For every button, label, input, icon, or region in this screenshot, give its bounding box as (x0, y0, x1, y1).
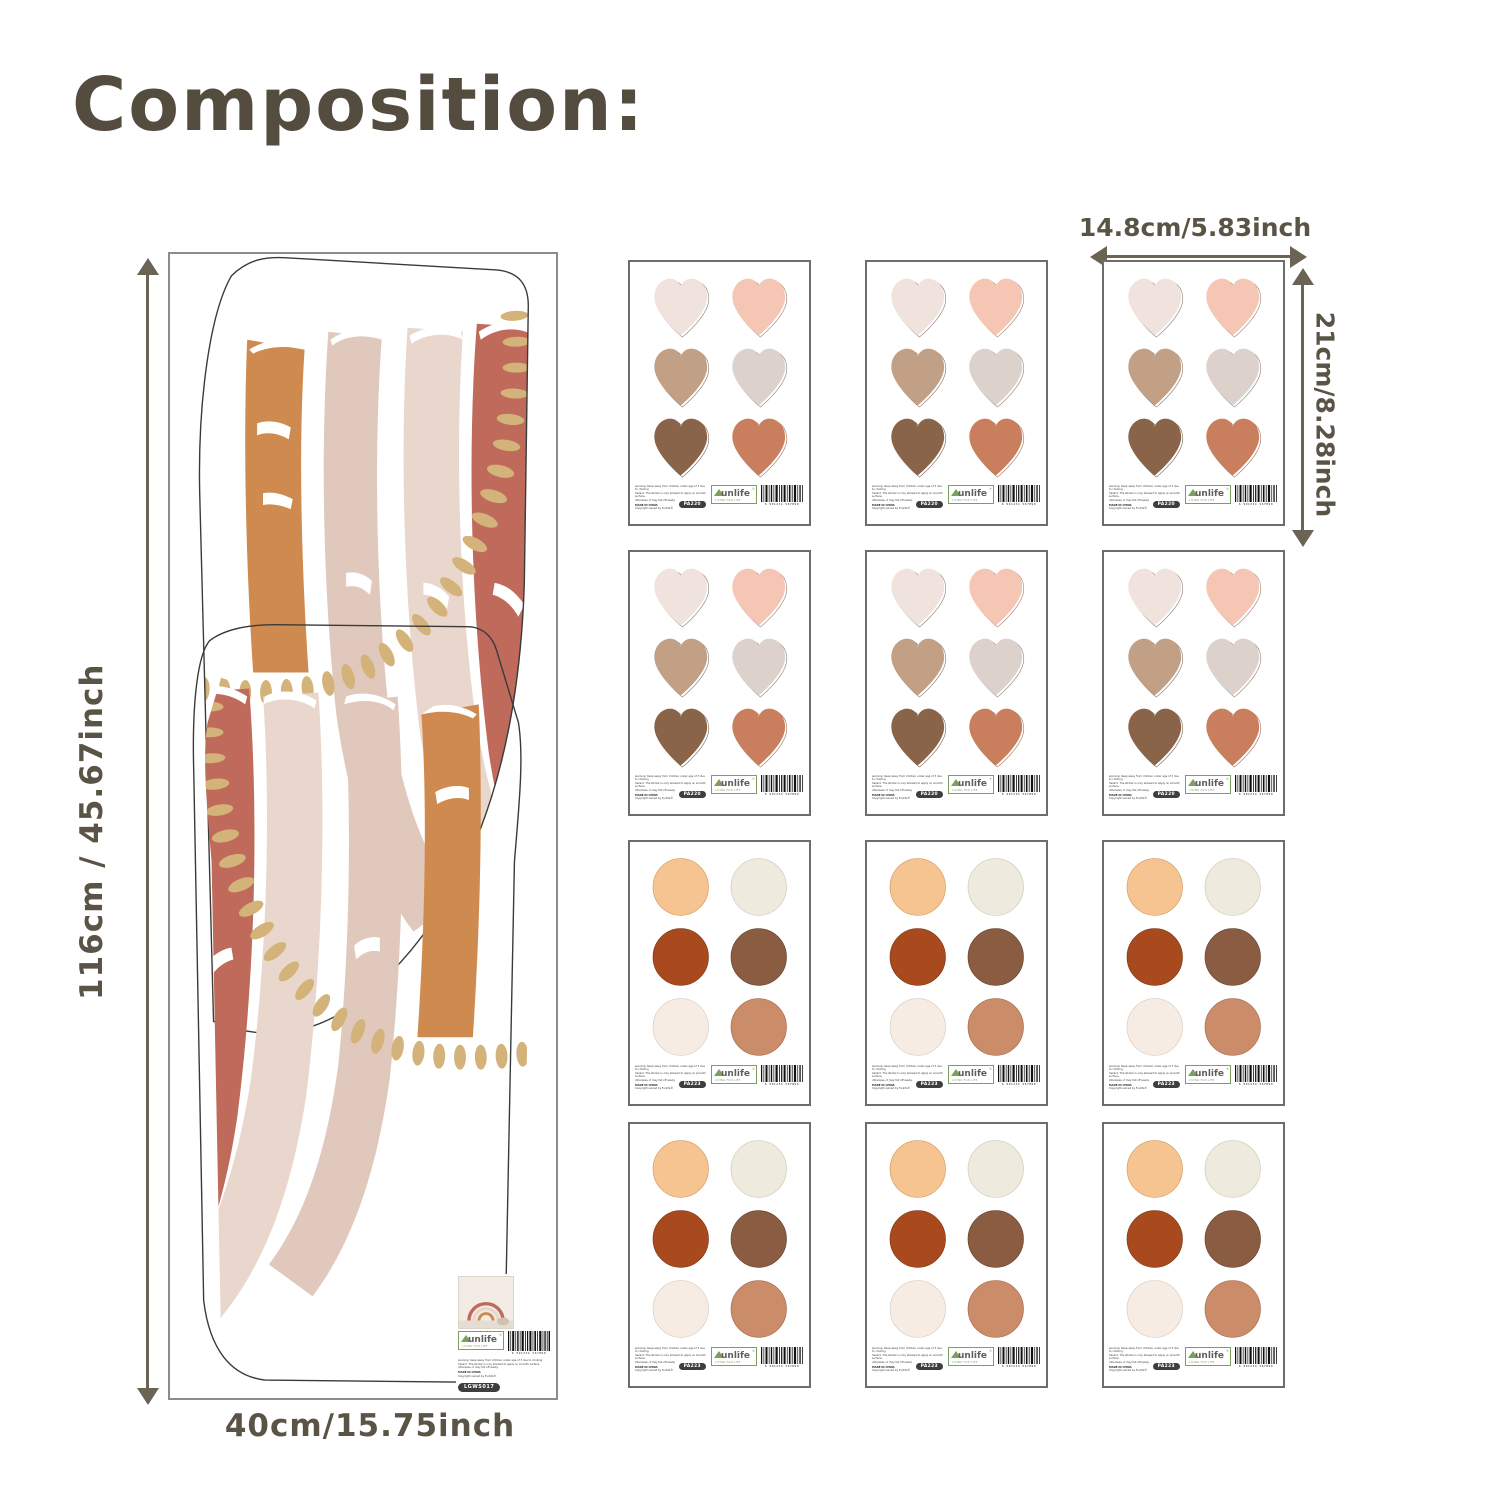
heart-sticker-sheet[interactable]: warning: Keep away from children under a… (865, 550, 1048, 816)
heart-sticker-dark-brown[interactable] (879, 702, 957, 772)
circle-sticker-medium-brown[interactable] (1194, 1204, 1272, 1274)
barcode-number: 6 901234 567890 (1234, 1364, 1278, 1368)
trademark-icon: ® (752, 777, 755, 781)
barcode: 6 901234 567890 (997, 1065, 1041, 1089)
sheet-footer: warning: Keep away from children under a… (1104, 1344, 1283, 1386)
trademark-icon: ® (499, 1333, 502, 1337)
heart-sticker-sheet[interactable]: warning: Keep away from children under a… (1102, 550, 1285, 816)
heart-sticker-terracotta[interactable] (1194, 412, 1272, 482)
circle-sticker-salmon-tan[interactable] (1194, 1274, 1272, 1344)
rainbow-bottom-piece (170, 675, 529, 1377)
heart-sticker-sheet[interactable]: warning: Keep away from children under a… (1102, 260, 1285, 526)
sheet-code-badge: PA220 (679, 791, 706, 798)
sheet-footer: warning: Keep away from children under a… (1104, 772, 1283, 814)
barcode-bars-icon (997, 1065, 1041, 1082)
sheet-artwork (630, 842, 809, 1062)
circle-sticker-sheet[interactable]: warning: Keep away from children under a… (628, 840, 811, 1106)
sheet-artwork (630, 262, 809, 482)
heart-sticker-tan-camel[interactable] (642, 632, 720, 702)
trademark-icon: ® (1226, 777, 1229, 781)
warning-line-2: hazard. The sticker is only allowed to a… (635, 492, 708, 499)
barcode-number: 6 901234 567890 (997, 1364, 1041, 1368)
rainbow-artwork (170, 254, 556, 1398)
circle-sticker-light-apricot[interactable] (1116, 852, 1194, 922)
warning-line-1: warning: Keep away from children under a… (872, 485, 945, 492)
sheet-code-badge: PA223 (916, 1363, 943, 1370)
circle-sticker-rust[interactable] (1116, 922, 1194, 992)
sheet-height-arrow-line (1301, 282, 1304, 534)
barcode-number: 6 901234 567890 (997, 502, 1041, 506)
rainbow-decal-panel[interactable]: unlife ® LIVING FUN LIFE (168, 252, 558, 1400)
circle-sticker-salmon-tan[interactable] (720, 992, 798, 1062)
warning-line-1: warning: Keep away from children under a… (1109, 775, 1182, 782)
warning-line-2: hazard. The sticker is only allowed to a… (1109, 492, 1182, 499)
warning-block: warning: Keep away from children under a… (1109, 775, 1182, 800)
warning-line-1: warning: Keep away from children under a… (872, 1347, 945, 1354)
barcode: 6 901234 567890 (997, 1347, 1041, 1371)
heart-sticker-dark-brown[interactable] (1116, 412, 1194, 482)
barcode-bars-icon (760, 1065, 804, 1082)
circle-sticker-salmon-tan[interactable] (957, 1274, 1035, 1344)
barcode-number: 6 901234 567890 (1234, 1082, 1278, 1086)
brand-name: unlife (958, 1352, 987, 1361)
circle-sticker-rust[interactable] (879, 922, 957, 992)
brand-name: unlife (721, 1070, 750, 1079)
circle-sticker-light-apricot[interactable] (1116, 1134, 1194, 1204)
heart-sticker-terracotta[interactable] (1194, 702, 1272, 772)
heart-sticker-tan-camel[interactable] (879, 342, 957, 412)
sheet-code-badge: PA223 (916, 1081, 943, 1088)
trademark-icon: ® (752, 1067, 755, 1071)
brand-logo: unlife ® LIVING FUN LIFE (711, 775, 757, 794)
thumbnail-rainbow-art (459, 1277, 513, 1328)
trademark-icon: ® (989, 1349, 992, 1353)
warning-line-2: hazard. The sticker is only allowed to a… (635, 1072, 708, 1079)
sheet-width-arrow-line (1104, 255, 1290, 258)
heart-sticker-tan-camel[interactable] (1116, 632, 1194, 702)
sheet-code-badge: PA220 (1153, 791, 1180, 798)
heart-sticker-tan-camel[interactable] (642, 342, 720, 412)
sheet-code-badge: PA223 (1153, 1363, 1180, 1370)
warning-block: warning: Keep away from children under a… (872, 1347, 945, 1372)
sheet-code-badge: PA223 (679, 1363, 706, 1370)
brand-tagline: LIVING FUN LIFE (715, 499, 741, 502)
circle-sticker-linen-white[interactable] (879, 992, 957, 1062)
heart-sticker-terracotta[interactable] (720, 702, 798, 772)
trademark-icon: ® (1226, 1067, 1229, 1071)
barcode-bars-icon (760, 1347, 804, 1364)
warning-block: warning: Keep away from children under a… (872, 1065, 945, 1090)
barcode-bars-icon (1234, 775, 1278, 792)
brand-tagline: LIVING FUN LIFE (715, 789, 741, 792)
circle-sticker-sheet[interactable]: warning: Keep away from children under a… (865, 840, 1048, 1106)
circle-sticker-sheet[interactable]: warning: Keep away from children under a… (1102, 1122, 1285, 1388)
circle-sticker-medium-brown[interactable] (720, 922, 798, 992)
warning-line-1: warning: Keep away from children under a… (635, 775, 708, 782)
warning-block: warning: Keep away from children under a… (635, 1347, 708, 1372)
warning-block: warning: Keep away from children under a… (872, 775, 945, 800)
copyright-label: Copyright owned by Funlife® (458, 1375, 550, 1378)
brand-tagline: LIVING FUN LIFE (715, 1361, 741, 1364)
trademark-icon: ® (989, 777, 992, 781)
brand-name: unlife (958, 1070, 987, 1079)
warning-block: warning: Keep away from children under a… (635, 775, 708, 800)
barcode: 6 901234 567890 (1234, 485, 1278, 509)
warning-block: warning: Keep away from children under a… (1109, 1065, 1182, 1090)
heart-sticker-warm-grey[interactable] (720, 342, 798, 412)
height-arrow-line (146, 272, 149, 1392)
warning-line-1: warning: Keep away from children under a… (635, 485, 708, 492)
height-arrow-head-bottom (137, 1388, 159, 1405)
heart-sticker-dark-brown[interactable] (1116, 702, 1194, 772)
brand-tagline: LIVING FUN LIFE (952, 1361, 978, 1364)
trademark-icon: ® (752, 487, 755, 491)
heart-sticker-peach-pink[interactable] (720, 272, 798, 342)
brand-name: unlife (1195, 1352, 1224, 1361)
heart-sticker-peach-pink[interactable] (957, 272, 1035, 342)
heart-sticker-warm-grey[interactable] (957, 632, 1035, 702)
barcode-number: 6 901234 567890 (760, 502, 804, 506)
panel-label-block: unlife ® LIVING FUN LIFE (456, 1274, 552, 1394)
sheet-code-badge: PA220 (916, 791, 943, 798)
circle-sticker-linen-white[interactable] (879, 1274, 957, 1344)
circle-sticker-light-apricot[interactable] (879, 1134, 957, 1204)
heart-sticker-cream-blush[interactable] (1116, 272, 1194, 342)
sheet-code-badge: PA220 (679, 501, 706, 508)
heart-sticker-peach-pink[interactable] (957, 562, 1035, 632)
panel-height-label: 116cm / 45.67inch (74, 680, 110, 1000)
warning-line-1: warning: Keep away from children under a… (635, 1065, 708, 1072)
heart-sticker-sheet[interactable]: warning: Keep away from children under a… (628, 550, 811, 816)
barcode: 6 901234 567890 (760, 775, 804, 799)
barcode: 6 901234 567890 (760, 1347, 804, 1371)
sheet-artwork (867, 842, 1046, 1062)
brand-logo: unlife ® LIVING FUN LIFE (1185, 485, 1231, 504)
brand-tagline: LIVING FUN LIFE (952, 499, 978, 502)
circle-sticker-ivory-cream[interactable] (1194, 852, 1272, 922)
sheet-artwork (1104, 262, 1283, 482)
product-code-badge: LGWS017 (458, 1383, 500, 1392)
sheet-artwork (867, 1124, 1046, 1344)
circle-sticker-medium-brown[interactable] (720, 1204, 798, 1274)
brand-tagline: LIVING FUN LIFE (1189, 1079, 1215, 1082)
sticker-sheet-grid: warning: Keep away from children under a… (628, 260, 1288, 1420)
sheet-artwork (1104, 842, 1283, 1062)
warning-line-2: hazard. The sticker is only allowed to a… (1109, 1354, 1182, 1361)
brand-tagline: LIVING FUN LIFE (462, 1345, 488, 1348)
warning-line-2: hazard. The sticker is only allowed to a… (872, 492, 945, 499)
brand-tagline: LIVING FUN LIFE (1189, 789, 1215, 792)
circle-sticker-medium-brown[interactable] (957, 1204, 1035, 1274)
barcode: 6 901234 567890 (760, 1065, 804, 1089)
circle-sticker-ivory-cream[interactable] (720, 852, 798, 922)
warning-line-2: hazard. The sticker is only allowed to a… (872, 1072, 945, 1079)
warning-line-1: warning: Keep away from children under a… (1109, 1065, 1182, 1072)
barcode-bars-icon (1234, 1347, 1278, 1364)
circle-sticker-linen-white[interactable] (1116, 1274, 1194, 1344)
brand-logo: unlife ® LIVING FUN LIFE (1185, 1065, 1231, 1084)
barcode-bars-icon (1234, 1065, 1278, 1082)
warning-line-1: warning: Keep away from children under a… (635, 1347, 708, 1354)
heart-sticker-sheet[interactable]: warning: Keep away from children under a… (628, 260, 811, 526)
warning-block: warning: Keep away from children under a… (458, 1359, 550, 1378)
circle-sticker-medium-brown[interactable] (957, 922, 1035, 992)
circle-sticker-salmon-tan[interactable] (1194, 992, 1272, 1062)
product-thumbnail (458, 1276, 514, 1329)
heart-sticker-warm-grey[interactable] (957, 342, 1035, 412)
barcode-number: 6 901234 567890 (997, 792, 1041, 796)
brand-name: unlife (958, 490, 987, 499)
sheet-footer: warning: Keep away from children under a… (867, 482, 1046, 524)
brand-logo: unlife ® LIVING FUN LIFE (711, 1065, 757, 1084)
circle-sticker-ivory-cream[interactable] (957, 1134, 1035, 1204)
barcode-number: 6 901234 567890 (1234, 792, 1278, 796)
sheet-footer: warning: Keep away from children under a… (630, 482, 809, 524)
barcode-bars-icon (997, 485, 1041, 502)
brand-tagline: LIVING FUN LIFE (1189, 499, 1215, 502)
barcode: 6 901234 567890 (507, 1331, 551, 1355)
barcode-bars-icon (997, 1347, 1041, 1364)
panel-width-label: 40cm/15.75inch (170, 1408, 570, 1444)
sheet-height-label: 21cm/8.28inch (1311, 280, 1340, 550)
warning-line-1: warning: Keep away from children under a… (1109, 485, 1182, 492)
barcode-bars-icon (997, 775, 1041, 792)
warning-block: warning: Keep away from children under a… (1109, 485, 1182, 510)
circle-sticker-sheet[interactable]: warning: Keep away from children under a… (628, 1122, 811, 1388)
heart-sticker-warm-grey[interactable] (720, 632, 798, 702)
trademark-icon: ® (1226, 1349, 1229, 1353)
warning-line-1: warning: Keep away from children under a… (1109, 1347, 1182, 1354)
heart-sticker-warm-grey[interactable] (1194, 632, 1272, 702)
warning-line-2: hazard. The sticker is only allowed to a… (872, 1354, 945, 1361)
brand-logo: unlife ® LIVING FUN LIFE (458, 1331, 504, 1350)
barcode-number: 6 901234 567890 (760, 1082, 804, 1086)
page-title: Composition: (72, 62, 645, 148)
trademark-icon: ® (1226, 487, 1229, 491)
brand-name: unlife (1195, 1070, 1224, 1079)
brand-logo: unlife ® LIVING FUN LIFE (1185, 1347, 1231, 1366)
composition-page: Composition: 116cm / 45.67inch 40cm/15.7… (0, 0, 1501, 1501)
circle-sticker-salmon-tan[interactable] (720, 1274, 798, 1344)
heart-sticker-tan-camel[interactable] (879, 632, 957, 702)
heart-sticker-dark-brown[interactable] (642, 412, 720, 482)
barcode-bars-icon (1234, 485, 1278, 502)
circle-sticker-linen-white[interactable] (642, 1274, 720, 1344)
warning-line-2: hazard. The sticker is only allowed to a… (1109, 1072, 1182, 1079)
brand-logo: unlife ® LIVING FUN LIFE (711, 485, 757, 504)
circle-sticker-linen-white[interactable] (1116, 992, 1194, 1062)
circle-sticker-sheet[interactable]: warning: Keep away from children under a… (1102, 840, 1285, 1106)
brand-name: unlife (721, 780, 750, 789)
sheet-artwork (867, 262, 1046, 482)
warning-line-2: hazard. The sticker is only allowed to a… (872, 782, 945, 789)
sheet-footer: warning: Keep away from children under a… (1104, 1062, 1283, 1104)
sheet-artwork (1104, 1124, 1283, 1344)
sheet-code-badge: PA220 (1153, 501, 1180, 508)
brand-tagline: LIVING FUN LIFE (952, 1079, 978, 1082)
brand-logo: unlife ® LIVING FUN LIFE (948, 1065, 994, 1084)
circle-sticker-salmon-tan[interactable] (957, 992, 1035, 1062)
brand-tagline: LIVING FUN LIFE (715, 1079, 741, 1082)
circle-sticker-ivory-cream[interactable] (957, 852, 1035, 922)
barcode: 6 901234 567890 (1234, 1065, 1278, 1089)
heart-sticker-tan-camel[interactable] (1116, 342, 1194, 412)
heart-sticker-terracotta[interactable] (957, 702, 1035, 772)
warning-line-1: warning: Keep away from children under a… (872, 1065, 945, 1072)
brand-logo: unlife ® LIVING FUN LIFE (711, 1347, 757, 1366)
circle-sticker-light-apricot[interactable] (879, 852, 957, 922)
trademark-icon: ® (989, 487, 992, 491)
barcode-bars-icon (760, 775, 804, 792)
heart-sticker-cream-blush[interactable] (642, 562, 720, 632)
brand-name: unlife (721, 490, 750, 499)
brand-name: unlife (721, 1352, 750, 1361)
circle-sticker-sheet[interactable]: warning: Keep away from children under a… (865, 1122, 1048, 1388)
heart-sticker-cream-blush[interactable] (879, 272, 957, 342)
sheet-footer: warning: Keep away from children under a… (867, 1344, 1046, 1386)
heart-sticker-cream-blush[interactable] (642, 272, 720, 342)
heart-sticker-warm-grey[interactable] (1194, 342, 1272, 412)
barcode: 6 901234 567890 (997, 485, 1041, 509)
brand-tagline: LIVING FUN LIFE (952, 789, 978, 792)
warning-line-2: hazard. The sticker is only allowed to a… (1109, 782, 1182, 789)
sheet-artwork (867, 552, 1046, 772)
warning-block: warning: Keep away from children under a… (1109, 1347, 1182, 1372)
heart-sticker-dark-brown[interactable] (642, 702, 720, 772)
heart-sticker-cream-blush[interactable] (879, 562, 957, 632)
barcode-number: 6 901234 567890 (997, 1082, 1041, 1086)
barcode-number: 6 901234 567890 (760, 792, 804, 796)
trademark-icon: ® (752, 1349, 755, 1353)
brand-name: unlife (1195, 490, 1224, 499)
heart-sticker-peach-pink[interactable] (1194, 562, 1272, 632)
heart-sticker-cream-blush[interactable] (1116, 562, 1194, 632)
brand-logo: unlife ® LIVING FUN LIFE (948, 1347, 994, 1366)
heart-sticker-peach-pink[interactable] (720, 562, 798, 632)
heart-sticker-terracotta[interactable] (957, 412, 1035, 482)
circle-sticker-light-apricot[interactable] (642, 1134, 720, 1204)
sheet-artwork (630, 552, 809, 772)
warning-block: warning: Keep away from children under a… (635, 485, 708, 510)
sheet-artwork (1104, 552, 1283, 772)
barcode: 6 901234 567890 (760, 485, 804, 509)
barcode-bars-icon (507, 1331, 551, 1351)
heart-sticker-dark-brown[interactable] (879, 412, 957, 482)
warning-block: warning: Keep away from children under a… (635, 1065, 708, 1090)
circle-sticker-rust[interactable] (642, 922, 720, 992)
warning-line-1: warning: Keep away from children under a… (872, 775, 945, 782)
warning-line-2: hazard. The sticker is only allowed to a… (635, 1354, 708, 1361)
brand-logo: unlife ® LIVING FUN LIFE (948, 775, 994, 794)
brand-logo: unlife ® LIVING FUN LIFE (948, 485, 994, 504)
circle-sticker-ivory-cream[interactable] (1194, 1134, 1272, 1204)
barcode: 6 901234 567890 (1234, 1347, 1278, 1371)
warning-line-2: hazard. The sticker is only allowed to a… (635, 782, 708, 789)
sheet-footer: warning: Keep away from children under a… (1104, 482, 1283, 524)
sheet-code-badge: PA223 (679, 1081, 706, 1088)
brand-name: unlife (1195, 780, 1224, 789)
brand-logo: unlife ® LIVING FUN LIFE (1185, 775, 1231, 794)
sheet-footer: warning: Keep away from children under a… (630, 1344, 809, 1386)
brand-tagline: LIVING FUN LIFE (1189, 1361, 1215, 1364)
sheet-width-arrow-head-right (1290, 246, 1307, 268)
heart-sticker-peach-pink[interactable] (1194, 272, 1272, 342)
barcode-number: 6 901234 567890 (1234, 502, 1278, 506)
barcode-bars-icon (760, 485, 804, 502)
barcode-number: 6 901234 567890 (760, 1364, 804, 1368)
sheet-footer: warning: Keep away from children under a… (630, 1062, 809, 1104)
barcode: 6 901234 567890 (1234, 775, 1278, 799)
circle-sticker-ivory-cream[interactable] (720, 1134, 798, 1204)
barcode: 6 901234 567890 (997, 775, 1041, 799)
warning-line-3: otherwise, it may fall off easily. (458, 1366, 550, 1369)
circle-sticker-medium-brown[interactable] (1194, 922, 1272, 992)
barcode-number: 6 901234 567890 (507, 1351, 551, 1355)
sheet-artwork (630, 1124, 809, 1344)
warning-block: warning: Keep away from children under a… (872, 485, 945, 510)
sheet-footer: warning: Keep away from children under a… (867, 772, 1046, 814)
sheet-footer: warning: Keep away from children under a… (867, 1062, 1046, 1104)
circle-sticker-light-apricot[interactable] (642, 852, 720, 922)
brand-name: unlife (958, 780, 987, 789)
circle-sticker-rust[interactable] (642, 1204, 720, 1274)
sheet-footer: warning: Keep away from children under a… (630, 772, 809, 814)
sheet-code-badge: PA220 (916, 501, 943, 508)
sheet-code-badge: PA223 (1153, 1081, 1180, 1088)
heart-sticker-sheet[interactable]: warning: Keep away from children under a… (865, 260, 1048, 526)
trademark-icon: ® (989, 1067, 992, 1071)
circle-sticker-linen-white[interactable] (642, 992, 720, 1062)
circle-sticker-rust[interactable] (879, 1204, 957, 1274)
heart-sticker-terracotta[interactable] (720, 412, 798, 482)
circle-sticker-rust[interactable] (1116, 1204, 1194, 1274)
sheet-width-label: 14.8cm/5.83inch (1060, 213, 1330, 242)
